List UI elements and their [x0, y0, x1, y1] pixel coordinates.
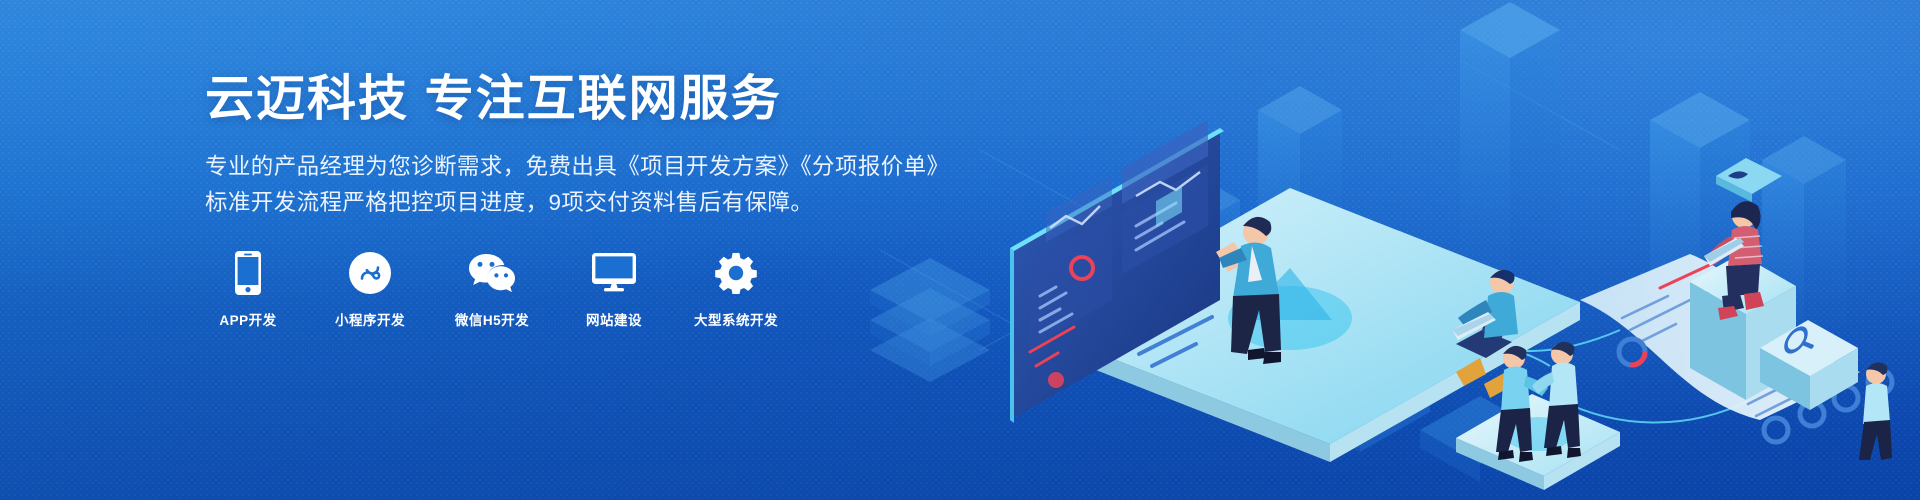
hero-banner: 云迈科技 专注互联网服务 专业的产品经理为您诊断需求，免费出具《项目开发方案》《…	[0, 0, 1920, 500]
gear-icon	[715, 250, 757, 296]
service-label: APP开发	[219, 309, 276, 329]
mobile-phone-icon	[235, 250, 261, 296]
page-title: 云迈科技 专注互联网服务	[205, 72, 905, 127]
subtitle-line-2: 标准开发流程严格把控项目进度，9项交付资料售后有保障。	[205, 185, 905, 221]
service-label: 微信H5开发	[455, 309, 529, 329]
service-item-wechat-h5[interactable]: 微信H5开发	[449, 250, 535, 329]
service-label: 大型系统开发	[694, 309, 778, 329]
service-item-miniprogram[interactable]: 小程序开发	[327, 250, 413, 329]
service-item-large-system[interactable]: 大型系统开发	[693, 250, 779, 329]
monitor-icon	[592, 250, 636, 296]
service-label: 网站建设	[586, 309, 642, 329]
small-person-right	[1859, 362, 1892, 460]
mini-program-icon	[349, 250, 391, 296]
hero-copy: 云迈科技 专注互联网服务 专业的产品经理为您诊断需求，免费出具《项目开发方案》《…	[205, 72, 905, 329]
hero-subtitle: 专业的产品经理为您诊断需求，免费出具《项目开发方案》《分项报价单》 标准开发流程…	[205, 149, 905, 222]
service-item-website[interactable]: 网站建设	[571, 250, 657, 329]
service-label: 小程序开发	[335, 309, 405, 329]
service-item-app[interactable]: APP开发	[205, 250, 291, 329]
service-list: APP开发 小程序开发	[205, 250, 905, 329]
isometric-tech-city-illustration	[860, 0, 1920, 500]
wechat-icon	[468, 250, 516, 296]
subtitle-line-1: 专业的产品经理为您诊断需求，免费出具《项目开发方案》《分项报价单》	[205, 149, 905, 185]
